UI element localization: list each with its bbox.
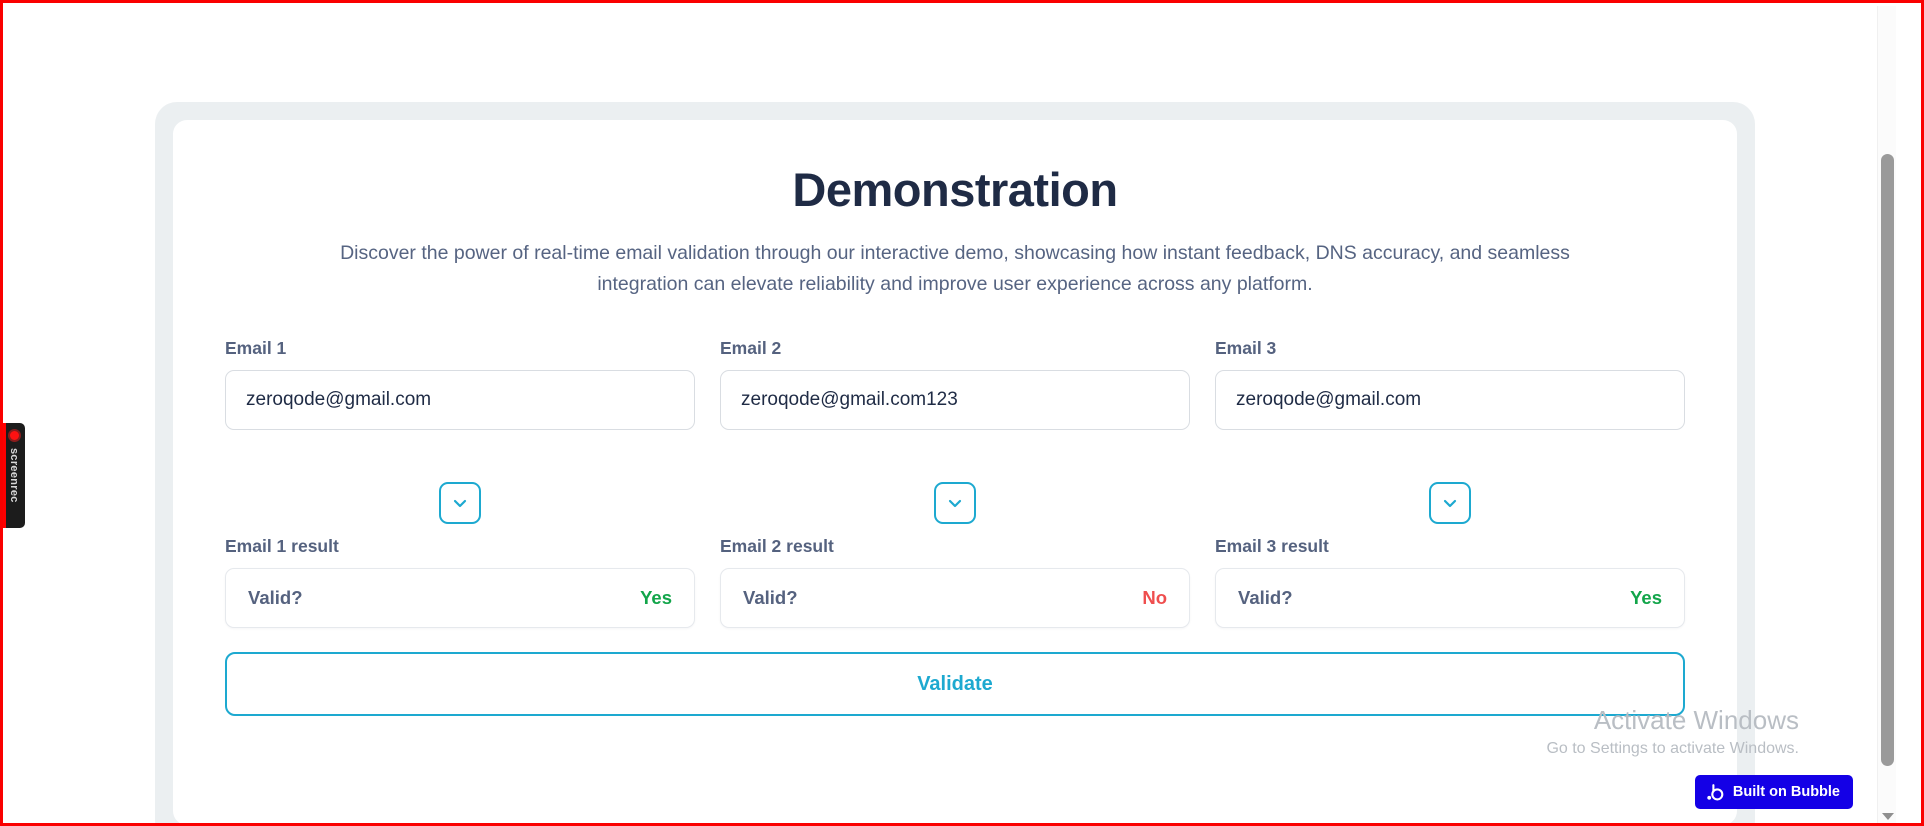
bubble-badge-label: Built on Bubble: [1733, 784, 1840, 800]
email-1-result-key: Valid?: [248, 587, 303, 609]
chevron-down-icon: [1440, 493, 1460, 513]
email-3-result-box: Valid? Yes: [1215, 568, 1685, 628]
email-1-label: Email 1: [225, 338, 695, 359]
email-2-result-label: Email 2 result: [720, 536, 1190, 557]
email-3-input[interactable]: [1215, 370, 1685, 430]
email-1-expand-button[interactable]: [439, 482, 481, 524]
email-2-expand-button[interactable]: [934, 482, 976, 524]
screenrec-label: screenrec: [8, 448, 20, 503]
email-3-result-key: Valid?: [1238, 587, 1293, 609]
page-title: Demonstration: [225, 162, 1685, 217]
chevron-down-icon: [450, 493, 470, 513]
email-inputs-row: Email 1 Email 2 Email 3: [225, 338, 1685, 430]
watermark-title: Activate Windows: [1546, 705, 1799, 735]
windows-activation-watermark: Activate Windows Go to Settings to activ…: [1546, 705, 1799, 761]
email-3-expand-button[interactable]: [1429, 482, 1471, 524]
vertical-scrollbar[interactable]: [1877, 6, 1896, 823]
email-3-result-label: Email 3 result: [1215, 536, 1685, 557]
demo-content: Demonstration Discover the power of real…: [173, 120, 1737, 823]
email-2-label: Email 2: [720, 338, 1190, 359]
bubble-b-logo-icon: [1706, 783, 1725, 802]
email-2-result-box: Valid? No: [720, 568, 1190, 628]
email-column-2: Email 2: [720, 338, 1190, 430]
page-subtitle: Discover the power of real-time email va…: [305, 238, 1605, 300]
email-1-input[interactable]: [225, 370, 695, 430]
scrollbar-thumb[interactable]: [1881, 154, 1894, 766]
browser-viewport: Demonstration Discover the power of real…: [3, 3, 1899, 823]
chevron-wrap-1: [225, 482, 695, 524]
result-column-1: Email 1 result Valid? Yes: [225, 536, 695, 628]
chevron-column-2: [720, 468, 1190, 536]
screenrec-widget[interactable]: screenrec: [3, 423, 25, 528]
validate-button[interactable]: Validate: [225, 652, 1685, 716]
email-1-result-label: Email 1 result: [225, 536, 695, 557]
email-1-result-box: Valid? Yes: [225, 568, 695, 628]
screenrec-red-bar: [3, 423, 6, 528]
result-column-3: Email 3 result Valid? Yes: [1215, 536, 1685, 628]
email-column-1: Email 1: [225, 338, 695, 430]
email-2-result-value: No: [1142, 587, 1167, 609]
email-1-result-value: Yes: [640, 587, 672, 609]
chevron-buttons-row: [225, 468, 1685, 536]
email-2-input[interactable]: [720, 370, 1190, 430]
result-column-2: Email 2 result Valid? No: [720, 536, 1190, 628]
email-results-row: Email 1 result Valid? Yes Email 2 result…: [225, 536, 1685, 628]
chevron-wrap-3: [1215, 482, 1685, 524]
chevron-down-icon: [945, 493, 965, 513]
chevron-column-3: [1215, 468, 1685, 536]
scroll-down-arrow-icon[interactable]: [1882, 813, 1894, 820]
watermark-subtitle: Go to Settings to activate Windows.: [1546, 737, 1799, 761]
chevron-wrap-2: [720, 482, 1190, 524]
record-dot-icon[interactable]: [8, 429, 21, 442]
email-2-result-key: Valid?: [743, 587, 798, 609]
chevron-column-1: [225, 468, 695, 536]
email-column-3: Email 3: [1215, 338, 1685, 430]
email-3-result-value: Yes: [1630, 587, 1662, 609]
email-3-label: Email 3: [1215, 338, 1685, 359]
built-on-bubble-badge[interactable]: Built on Bubble: [1695, 775, 1853, 809]
